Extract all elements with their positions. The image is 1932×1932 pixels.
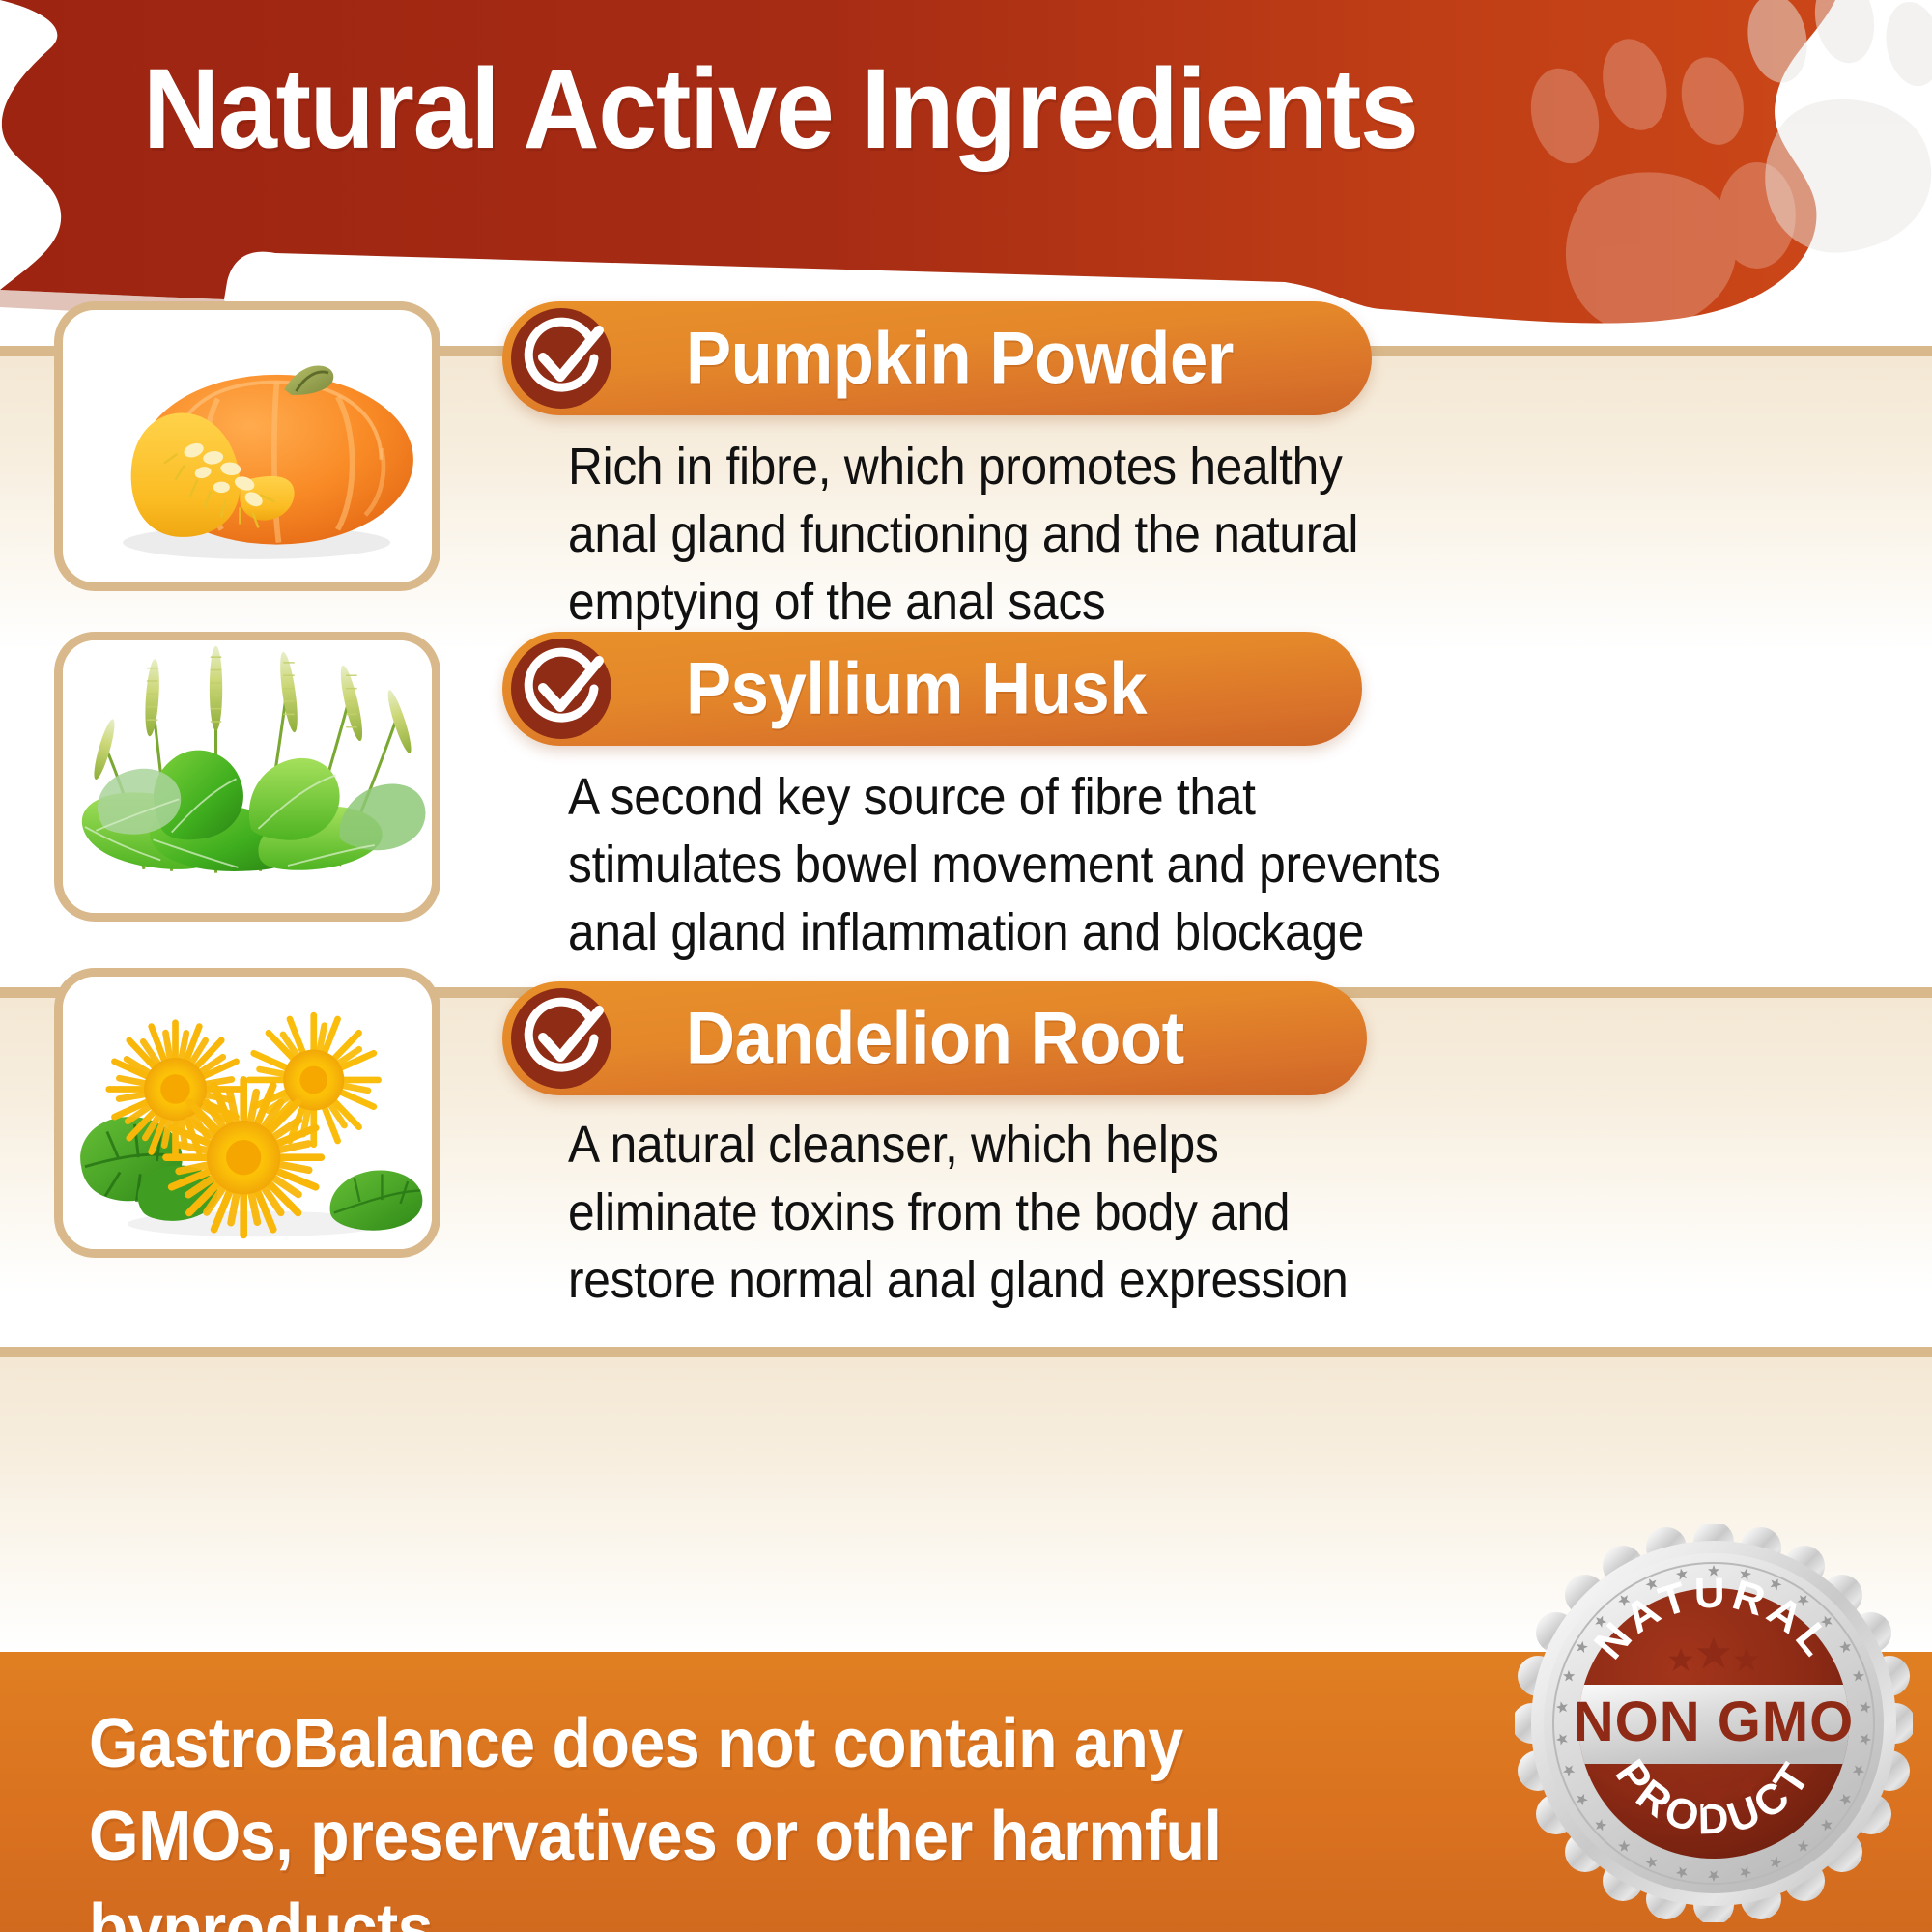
ingredient-image-card-dandelion: [54, 968, 440, 1258]
check-circle-icon: [508, 985, 614, 1092]
footer-text: GastroBalance does not contain any GMOs,…: [89, 1698, 1405, 1932]
ingredient-description: A natural cleanser, which helps eliminat…: [568, 1111, 1421, 1315]
badge-center-text: NON GMO: [1574, 1690, 1855, 1753]
ingredient-name: Dandelion Root: [686, 997, 1184, 1081]
infographic-canvas: Natural Active Ingredients: [0, 0, 1932, 1932]
non-gmo-seal-icon: NATURAL PRODUCT: [1515, 1524, 1913, 1922]
dandelion-photo: [63, 977, 432, 1254]
ingredient-pill-dandelion[interactable]: Dandelion Root: [502, 981, 1367, 1095]
